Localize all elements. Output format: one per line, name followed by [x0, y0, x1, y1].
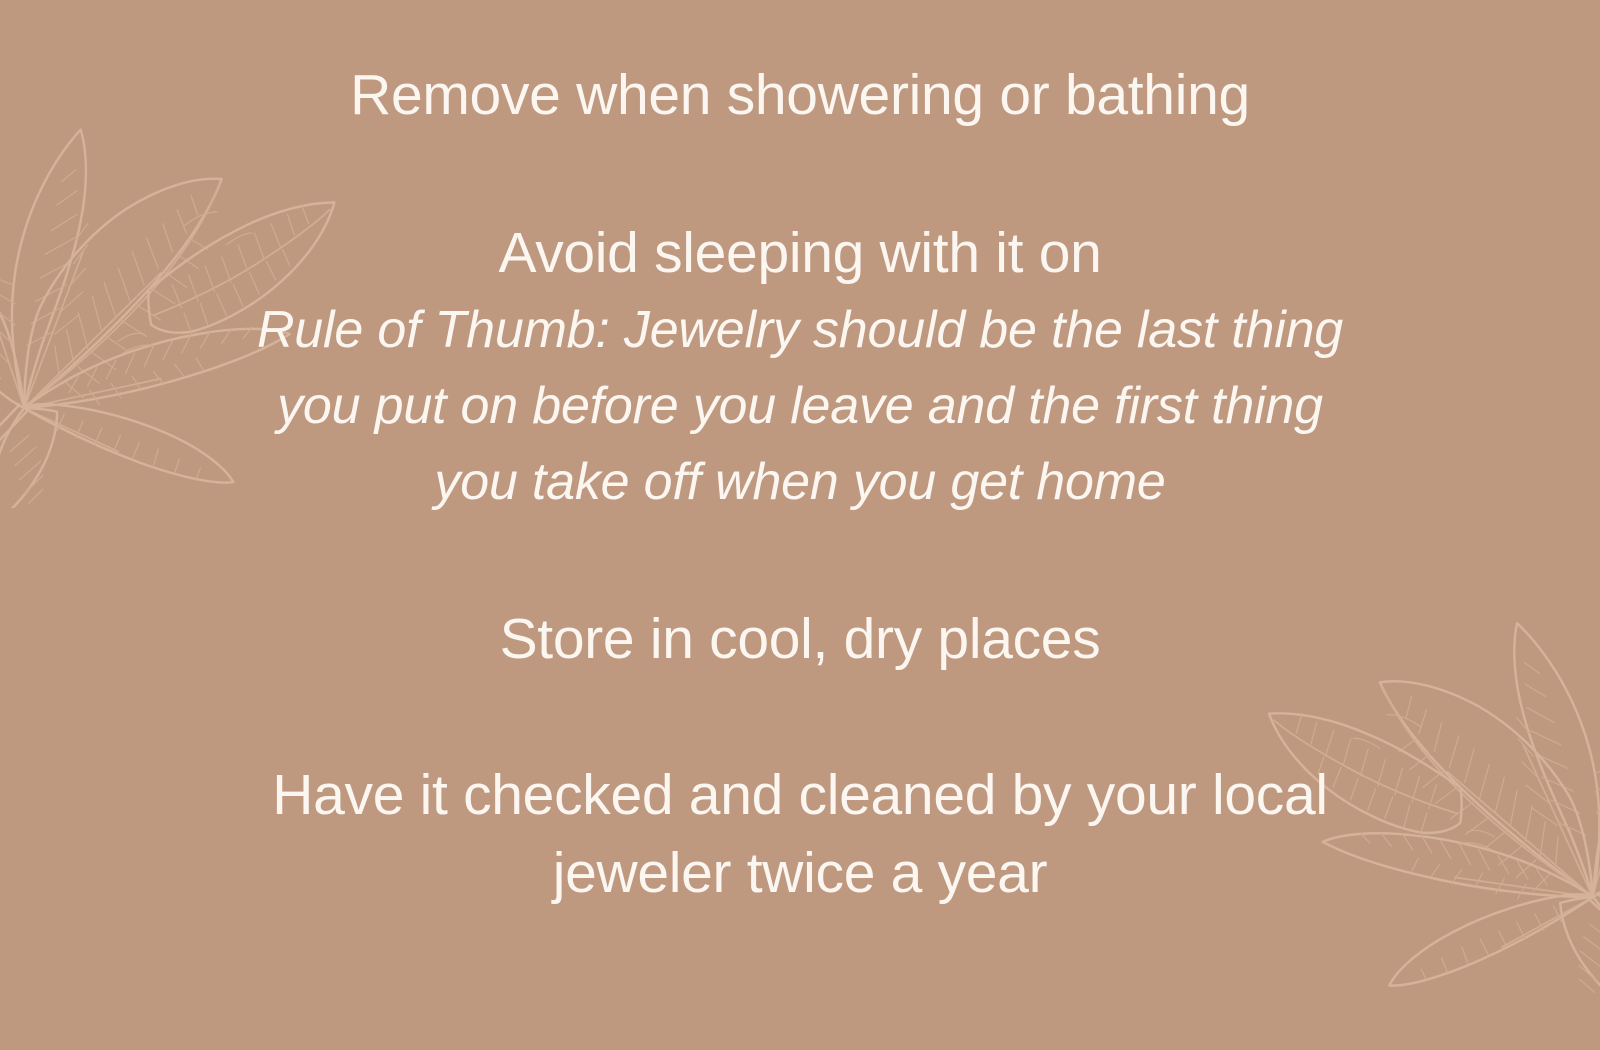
- rule-of-thumb-line-1: Rule of Thumb: Jewelry should be the las…: [100, 292, 1500, 368]
- rule-of-thumb-line-3: you take off when you get home: [100, 444, 1500, 520]
- instruction-line-have-it-checked-part-1: Have it checked and cleaned by your loca…: [100, 756, 1500, 834]
- instruction-line-store-in-cool-dry-places: Store in cool, dry places: [100, 600, 1500, 678]
- instruction-line-remove-when-showering: Remove when showering or bathing: [100, 56, 1500, 134]
- instruction-line-avoid-sleeping: Avoid sleeping with it on: [100, 214, 1500, 292]
- care-instructions-card: Remove when showering or bathing Avoid s…: [0, 0, 1600, 1050]
- instruction-line-have-it-checked-part-2: jeweler twice a year: [100, 834, 1500, 912]
- rule-of-thumb-line-2: you put on before you leave and the firs…: [100, 368, 1500, 444]
- care-instructions-text: Remove when showering or bathing Avoid s…: [0, 0, 1600, 1050]
